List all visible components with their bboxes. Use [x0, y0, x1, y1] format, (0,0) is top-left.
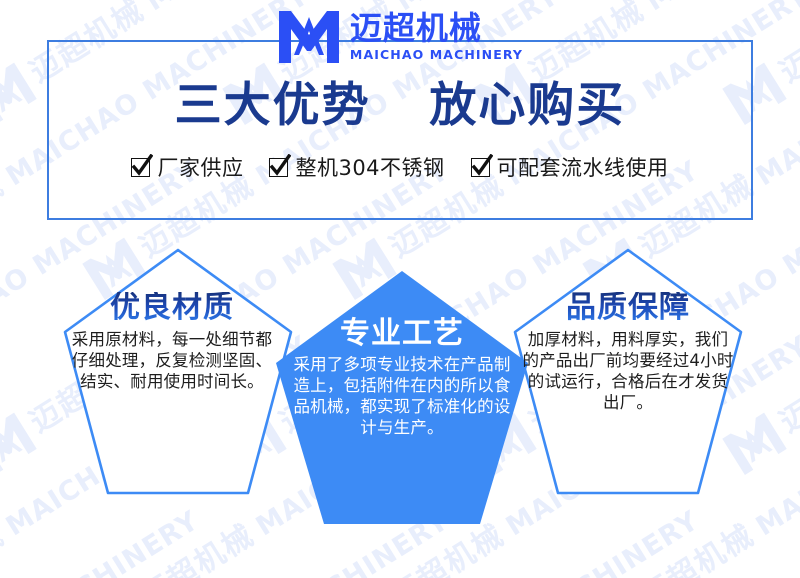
headline-part-1: 三大优势	[175, 78, 371, 133]
checkmark-icon	[269, 158, 288, 177]
check-item-1[interactable]: 整机304不锈钢	[269, 152, 444, 182]
checkmark-icon	[471, 158, 490, 177]
check-label-1: 整机304不锈钢	[295, 152, 444, 182]
pentagon-left-shape	[65, 250, 291, 493]
check-label-0: 厂家供应	[157, 152, 243, 182]
pentagon-center-shape	[276, 271, 528, 524]
logo-english-name: MAICHAO MACHINERY	[350, 47, 523, 62]
maichao-m-logo-icon	[277, 9, 341, 65]
brand-logo: 迈超机械 MAICHAO MACHINERY	[0, 4, 800, 70]
check-item-2[interactable]: 可配套流水线使用	[471, 152, 669, 182]
checkmark-icon	[131, 158, 150, 177]
page-title: 三大优势 放心购买	[0, 80, 800, 132]
headline-part-2: 放心购买	[429, 78, 625, 133]
check-label-2: 可配套流水线使用	[497, 152, 669, 182]
feature-check-row: 厂家供应 整机304不锈钢 可配套流水线使用	[47, 152, 753, 182]
pentagon-right-shape	[515, 250, 741, 493]
check-item-0[interactable]: 厂家供应	[131, 152, 243, 182]
logo-chinese-name: 迈超机械	[350, 12, 523, 45]
